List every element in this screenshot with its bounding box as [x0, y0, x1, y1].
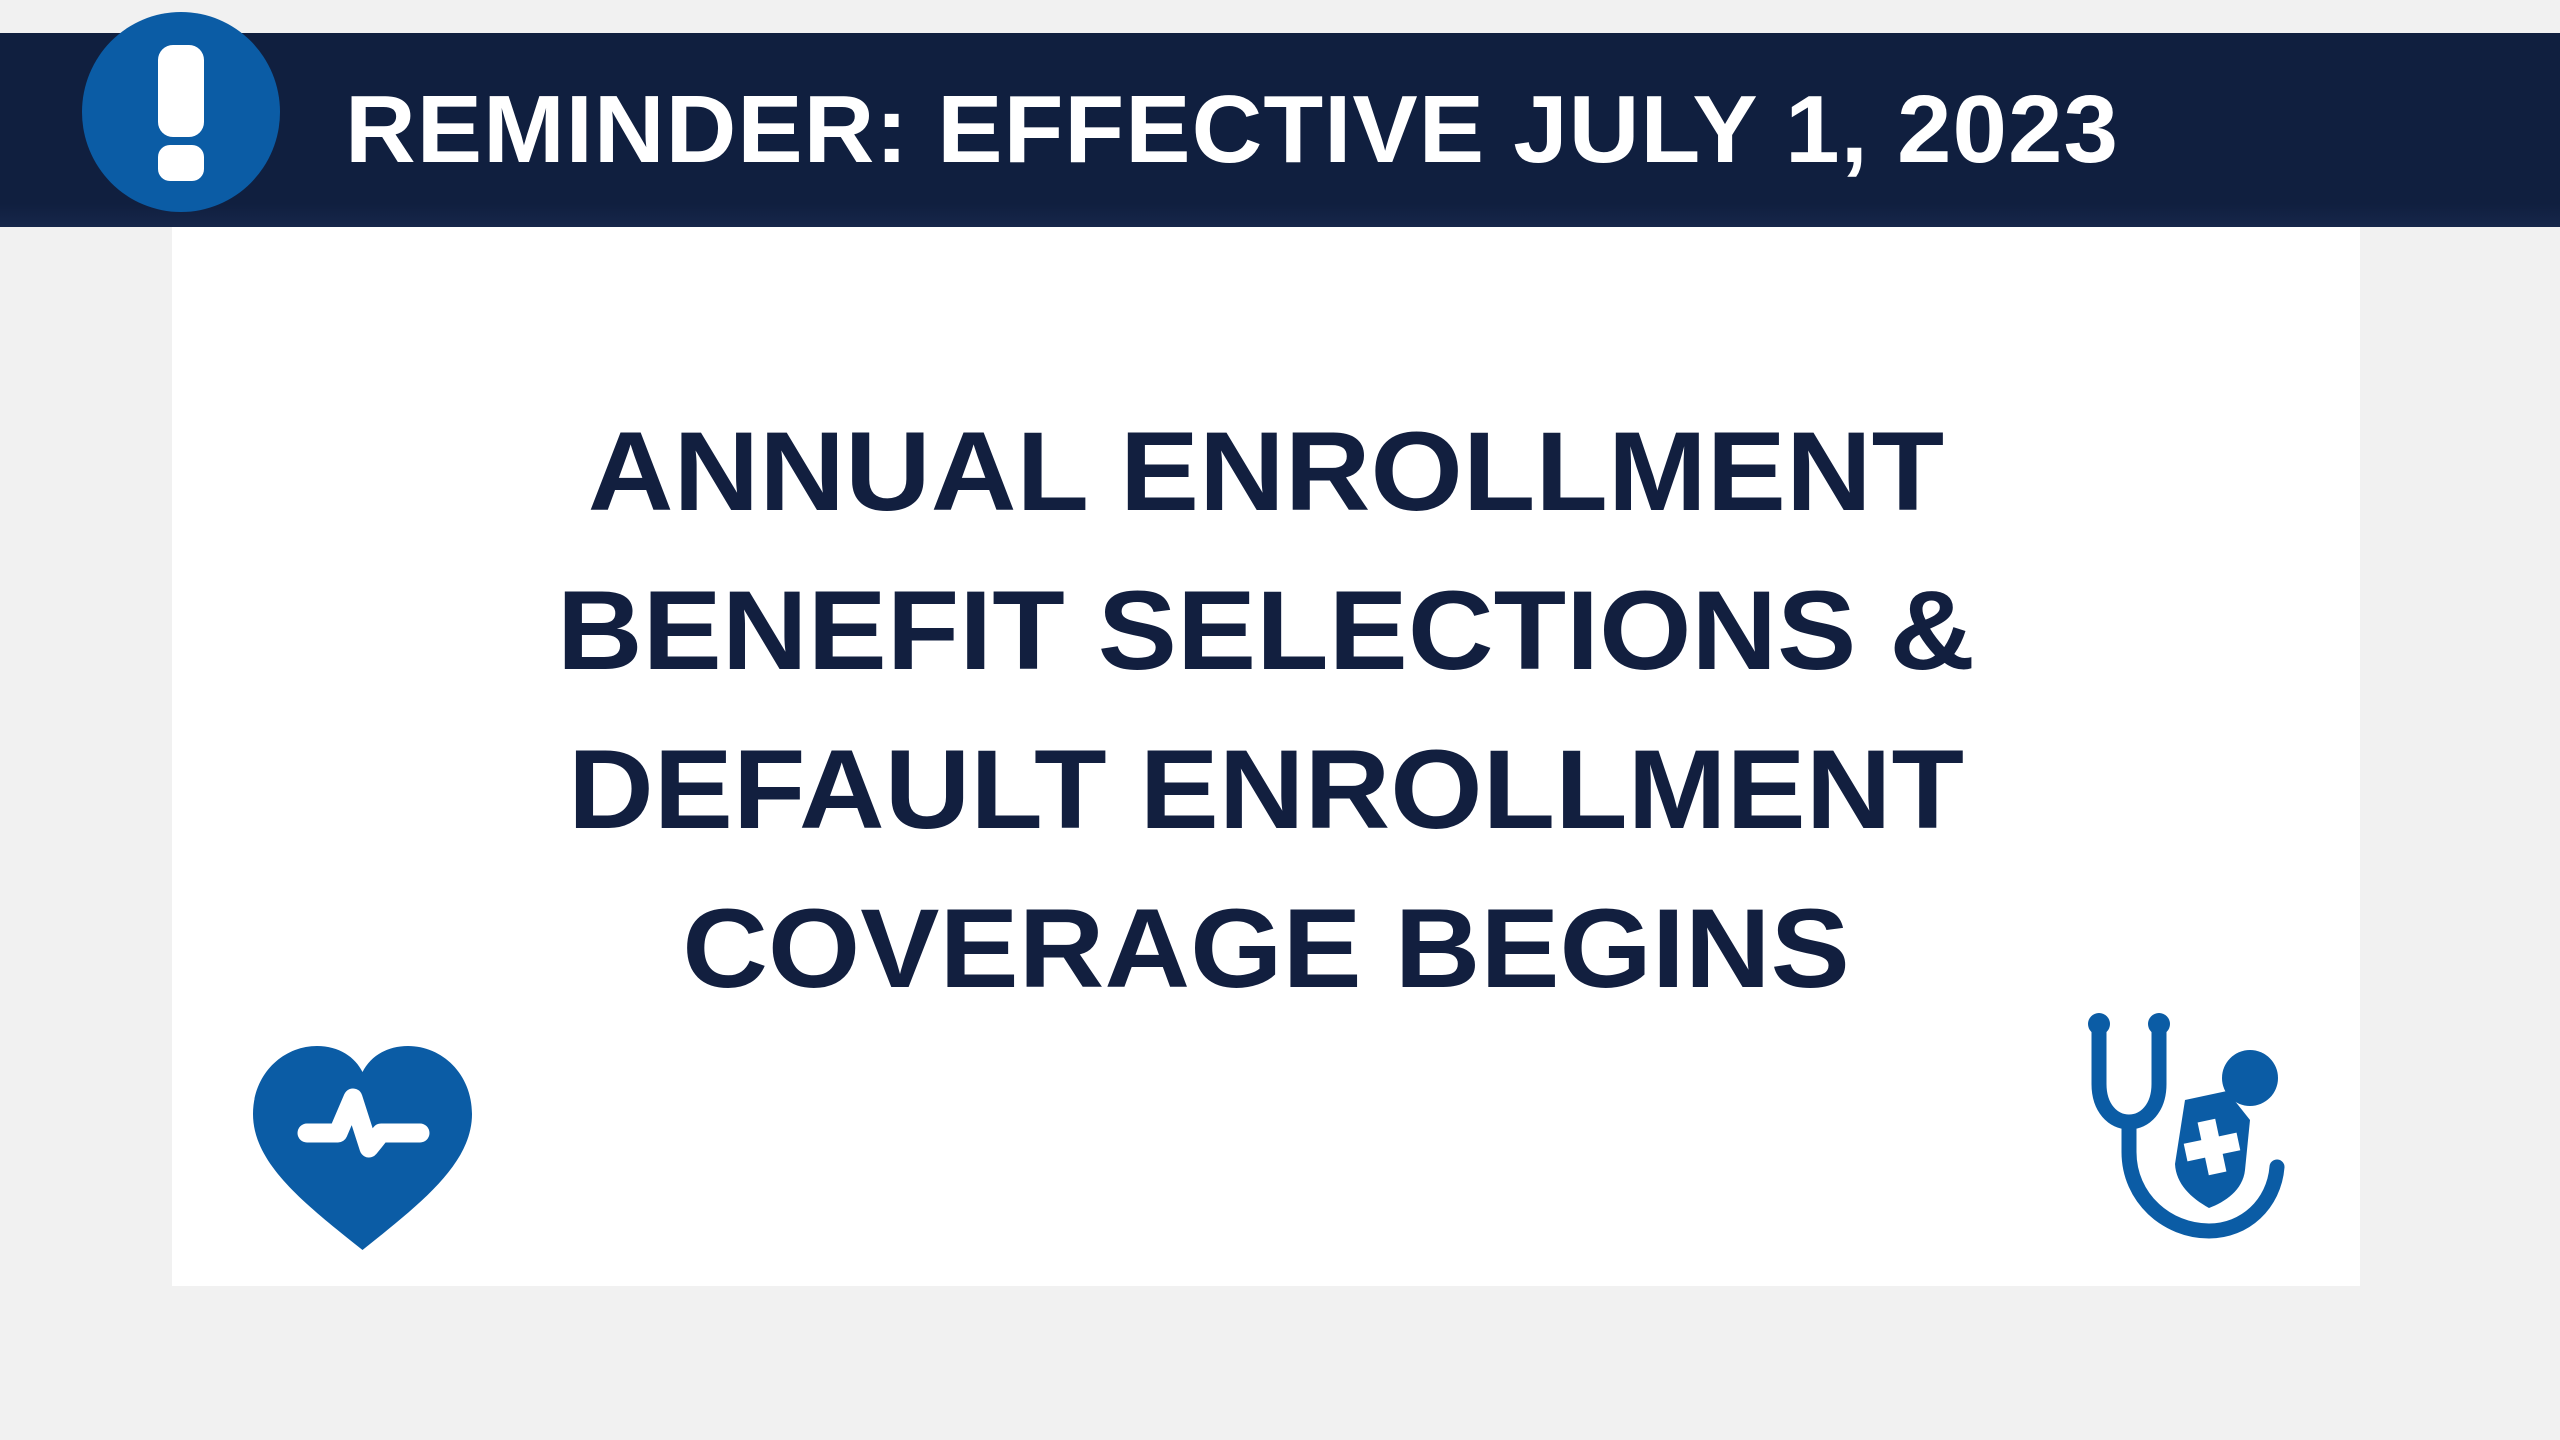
announcement-slide: REMINDER: EFFECTIVE JULY 1, 2023 ANNUAL …: [0, 0, 2560, 1440]
headline-line: DEFAULT ENROLLMENT: [106, 710, 2425, 869]
reminder-banner: REMINDER: EFFECTIVE JULY 1, 2023: [0, 33, 2560, 227]
headline-line: BENEFIT SELECTIONS &: [106, 551, 2425, 710]
headline-line: COVERAGE BEGINS: [106, 869, 2425, 1028]
banner-title: REMINDER: EFFECTIVE JULY 1, 2023: [345, 82, 2119, 178]
page-title: ANNUAL ENROLLMENT BENEFIT SELECTIONS & D…: [172, 392, 2360, 1028]
headline-line: ANNUAL ENROLLMENT: [106, 392, 2425, 551]
exclamation-circle-icon: [82, 12, 280, 212]
stethoscope-shield-cross-icon: [2075, 1012, 2297, 1262]
heart-pulse-icon: [245, 1038, 480, 1256]
